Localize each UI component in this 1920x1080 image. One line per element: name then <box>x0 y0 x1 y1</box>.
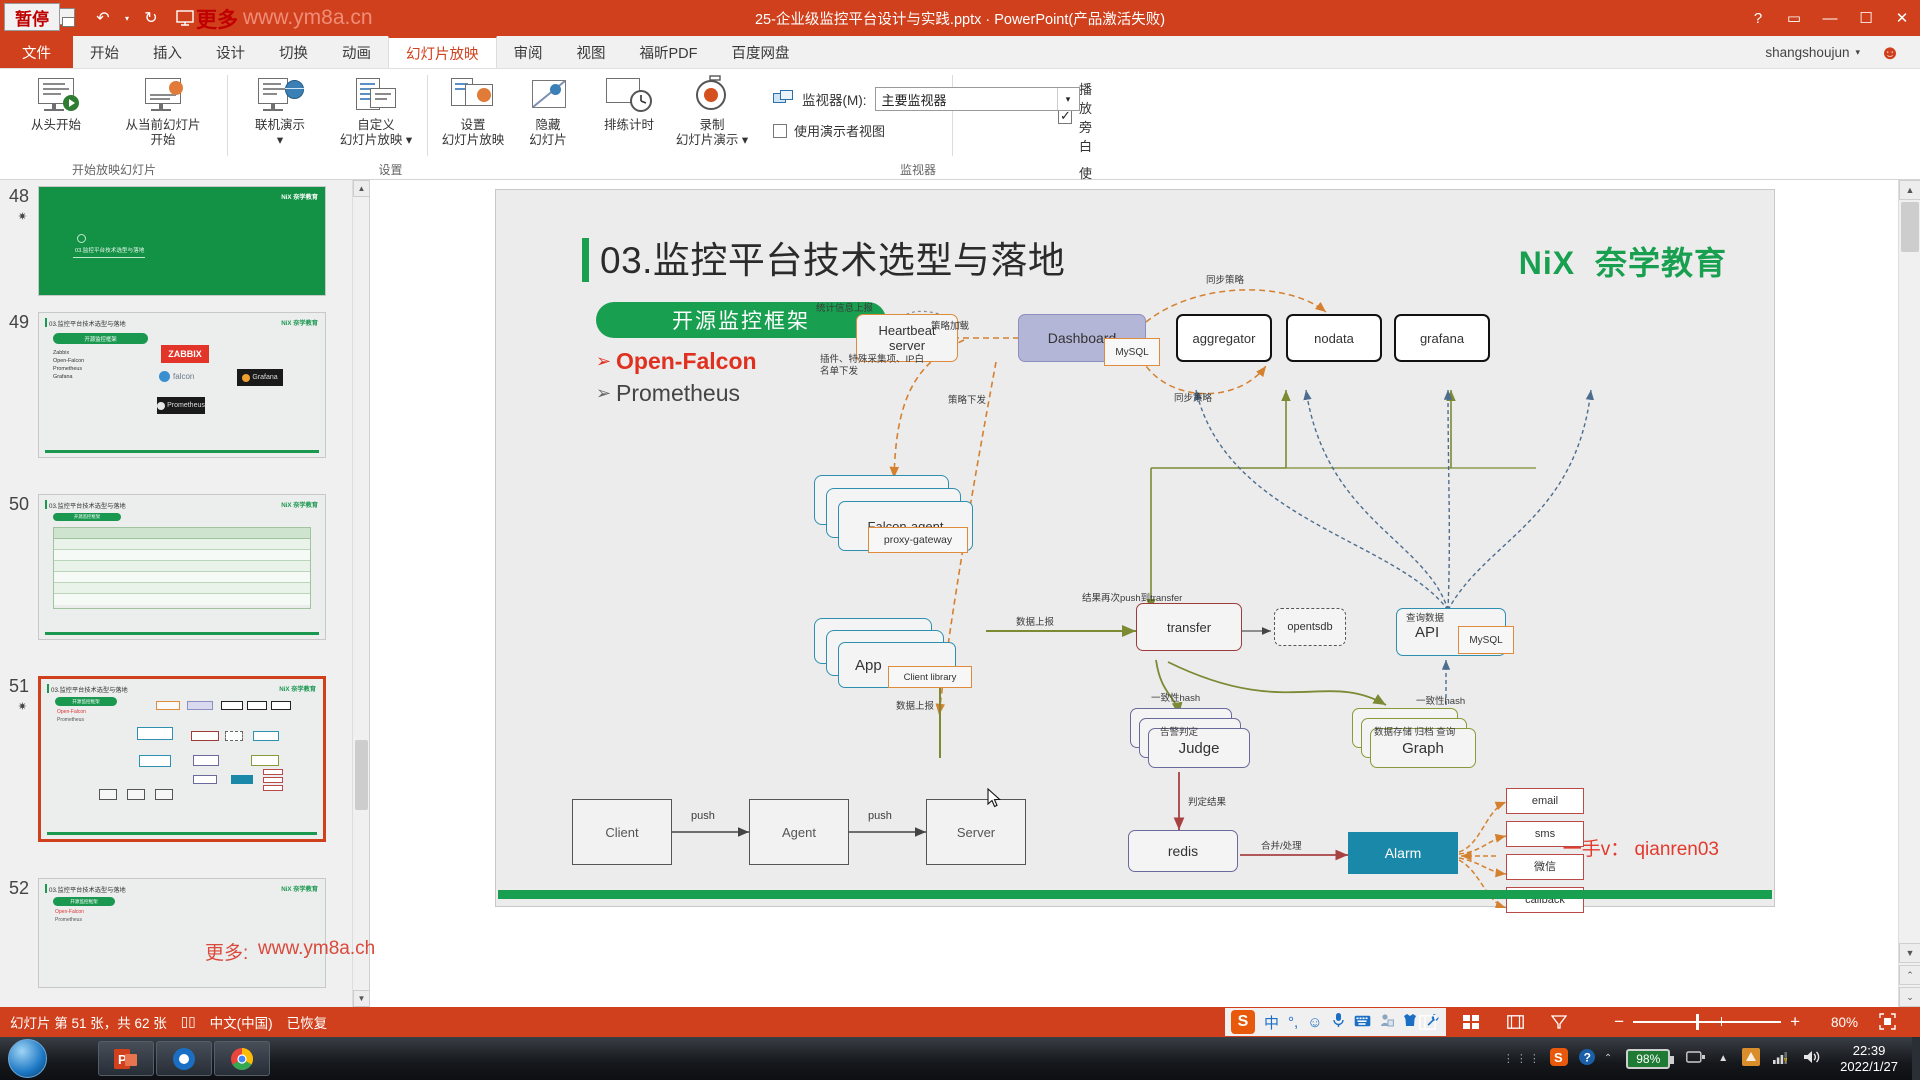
slide-number: 48 <box>0 186 38 207</box>
scrollbar-thumb[interactable] <box>1901 202 1919 252</box>
mini-pill: 开源监控框架 <box>53 897 115 906</box>
tray-power-icon[interactable] <box>1686 1050 1706 1067</box>
from-beginning-button[interactable]: 从头开始 <box>8 74 104 133</box>
grafana-badge: Grafana <box>237 369 283 386</box>
node-redis[interactable]: redis <box>1128 830 1238 872</box>
watermark-url-title: www.ym8a.cn <box>243 6 373 30</box>
battery-indicator[interactable]: 98% <box>1626 1049 1670 1069</box>
scroll-up-icon[interactable]: ▲ <box>353 180 370 197</box>
label-sync-policy-bottom: 同步策略 <box>1174 390 1212 404</box>
mini-title: 03.监控平台技术选型与落地 <box>49 501 126 510</box>
node-api-mysql[interactable]: MySQL <box>1458 626 1514 654</box>
present-online-icon <box>256 74 304 116</box>
tray-app-icon[interactable] <box>1742 1048 1760 1069</box>
reading-view-icon[interactable] <box>1506 1013 1524 1031</box>
close-button[interactable]: ✕ <box>1884 0 1920 36</box>
ribbon-group-label-start-show: 开始放映幻灯片 <box>0 161 228 178</box>
label-push-to-transfer: 结果再次push到transfer <box>1082 590 1182 604</box>
slide-number: 49 <box>0 312 38 333</box>
scrollbar-thumb[interactable] <box>355 740 368 810</box>
custom-slideshow-label: 自定义 幻灯片放映 ▾ <box>340 118 412 148</box>
ime-skin-icon[interactable] <box>1403 1013 1417 1031</box>
mini-bullets: Zabbix Open-Falcon Prometheus Grafana <box>53 349 84 381</box>
mini-bullet-1: Open-Falcon <box>55 909 84 915</box>
label-consistent-hash-2: 一致性hash <box>1416 693 1465 707</box>
scroll-down-icon[interactable]: ▼ <box>353 990 370 1007</box>
slide-number: 51 <box>0 676 38 697</box>
ime-mode-icon[interactable]: 中 <box>1264 1012 1279 1033</box>
scroll-down-icon[interactable]: ▼ <box>1899 943 1920 963</box>
volume-icon[interactable] <box>1802 1049 1822 1068</box>
minimize-button[interactable]: — <box>1812 0 1848 36</box>
scroll-up-icon[interactable]: ▲ <box>1899 180 1920 200</box>
custom-slideshow-button[interactable]: 自定义 幻灯片放映 ▾ <box>328 74 424 148</box>
label-push-1: push <box>691 810 715 822</box>
help-icon[interactable]: ? <box>1740 0 1776 36</box>
label-plugin-dispatch: 插件、特殊采集项、IP白名单下发 <box>820 354 930 378</box>
slide-canvas[interactable]: 03.监控平台技术选型与落地 NiX 奈学教育 开源监控框架 ➢ Open-Fa… <box>495 189 1775 907</box>
tab-design[interactable]: 设计 <box>199 36 262 68</box>
falcon-badge: falcon <box>159 371 194 382</box>
taskbar-xmind-icon[interactable] <box>156 1041 212 1076</box>
accessibility-icon[interactable]: ▯▯ <box>181 1014 196 1030</box>
mini-title: 03.监控平台技术选型与落地 <box>49 319 126 328</box>
zoom-percent[interactable]: 80% <box>1831 1007 1858 1037</box>
tab-insert[interactable]: 插入 <box>136 36 199 68</box>
zabbix-badge: ZABBIX <box>161 345 209 363</box>
thumbnail-slide-49[interactable]: 49 03.监控平台技术选型与落地 NiX 奈学教育 开源监控框架 Zabbix… <box>0 312 352 458</box>
view-buttons <box>1418 1007 1568 1037</box>
rehearse-timings-button[interactable]: 排练计时 <box>588 74 670 133</box>
chevron-down-icon: ▾ <box>1057 88 1079 110</box>
slide-thumbnail-pane: 48 ✷ NiX 奈学教育 03.监控平台技术选型与落地 49 03.监控平台技… <box>0 180 370 1007</box>
save-icon[interactable] <box>58 8 75 25</box>
label-push-2: push <box>868 810 892 822</box>
slide-watermark: 一手v： qianren03 <box>1563 834 1719 861</box>
mini-logo: NiX 奈学教育 <box>281 500 318 509</box>
node-client-library[interactable]: Client library <box>888 666 972 688</box>
zoom-slider-handle[interactable] <box>1696 1014 1699 1030</box>
monitor-label: 监视器(M): <box>802 89 867 109</box>
battery-percent: 98% <box>1636 1052 1660 1066</box>
setup-show-icon <box>449 74 497 116</box>
ribbon-group-start-show: 从头开始 从当前幻灯片 开始 开始放映幻灯片 <box>0 69 228 180</box>
ribbon-display-options-icon[interactable]: ▭ <box>1776 0 1812 36</box>
label-judge-result: 判定结果 <box>1188 794 1226 808</box>
tab-file[interactable]: 文件 <box>0 36 73 68</box>
node-server[interactable]: Server <box>926 799 1026 865</box>
avatar[interactable]: ☻ <box>1878 41 1902 65</box>
ime-toolbar[interactable]: S 中 °, ☺ <box>1225 1008 1446 1036</box>
mini-title: 03.监控平台技术选型与落地 <box>49 885 126 894</box>
label-consistent-hash-1: 一致性hash <box>1151 690 1200 704</box>
zoom-control: − + <box>1614 1007 1800 1037</box>
thumbnail-slide-48[interactable]: 48 ✷ NiX 奈学教育 03.监控平台技术选型与落地 <box>0 186 352 296</box>
zoom-out-button[interactable]: − <box>1614 1012 1624 1032</box>
svg-text:S: S <box>1554 1050 1563 1065</box>
node-nodata[interactable]: nodata <box>1286 314 1382 362</box>
label-data-report-2: 数据上报 <box>896 698 934 712</box>
slide-editing-pane: 03.监控平台技术选型与落地 NiX 奈学教育 开源监控框架 ➢ Open-Fa… <box>370 180 1898 1007</box>
record-slideshow-label: 录制 幻灯片演示 ▾ <box>676 118 748 148</box>
ime-user-icon[interactable] <box>1380 1013 1394 1031</box>
ribbon-group-monitors: 监视器(M): 主要监视器 ▾ 使用演示者视图 监视器 <box>753 69 1083 180</box>
tray-expand-icon[interactable]: ▲ <box>1718 1053 1728 1064</box>
tab-view[interactable]: 视图 <box>560 36 623 68</box>
fit-slide-icon[interactable] <box>1879 1013 1896 1030</box>
monitor-select-value: 主要监视器 <box>882 90 947 109</box>
title-bar: 25-企业级监控平台设计与实践.pptx · PowerPoint(产品激活失败… <box>0 0 1920 36</box>
slide-counter[interactable]: 幻灯片 第 51 张，共 62 张 <box>10 1012 167 1032</box>
prometheus-badge: Prometheus <box>157 397 205 414</box>
node-transfer[interactable]: transfer <box>1136 603 1242 651</box>
tray-grip: ⋮⋮⋮ <box>1503 1056 1542 1062</box>
mini-logo: NiX 奈学教育 <box>281 192 318 201</box>
network-icon[interactable]: ! <box>1772 1049 1790 1068</box>
ime-emoji-icon[interactable]: ☺ <box>1307 1014 1322 1031</box>
sogou-ime-icon[interactable]: S <box>1231 1010 1255 1034</box>
label-policy-load: 策略加载 <box>931 318 969 332</box>
mini-title: 03.监控平台技术选型与落地 <box>51 685 128 694</box>
node-dashboard-mysql[interactable]: MySQL <box>1104 338 1160 366</box>
mini-logo: NiX 奈学教育 <box>281 884 318 893</box>
mini-logo: NiX 奈学教育 <box>281 318 318 327</box>
ribbon: 从头开始 从当前幻灯片 开始 开始放映幻灯片 联机 <box>0 69 1920 180</box>
record-slideshow-button[interactable]: 录制 幻灯片演示 ▾ <box>668 74 756 148</box>
tray-sogou-icon[interactable]: S <box>1550 1048 1568 1069</box>
record-slideshow-icon <box>688 74 736 116</box>
mini-pill: 开源监控框架 <box>53 333 148 344</box>
zoom-slider[interactable] <box>1633 1021 1781 1023</box>
taskbar: P ⋮⋮⋮ S ? ⌃ 98% ▲ ! <box>0 1037 1920 1080</box>
setup-show-button[interactable]: 设置 幻灯片放映 <box>432 74 514 148</box>
mini-bullet-1: Open-Falcon <box>57 709 86 716</box>
mini-pill: 开源监控框架 <box>55 697 117 706</box>
mini-bullet-2: Prometheus <box>57 717 84 724</box>
node-agent[interactable]: Agent <box>749 799 849 865</box>
tab-transitions[interactable]: 切换 <box>262 36 325 68</box>
from-current-slide-button[interactable]: 从当前幻灯片 开始 <box>104 74 222 148</box>
label-alert-judge: 告警判定 <box>1160 724 1198 738</box>
redo-icon[interactable]: ↻ <box>134 3 168 33</box>
diagram-connectors <box>496 190 1776 908</box>
recovered-label[interactable]: 已恢复 <box>287 1012 328 1032</box>
animation-star-icon: ✷ <box>0 700 38 713</box>
mini-table <box>53 527 311 609</box>
start-orb-icon[interactable] <box>8 1039 47 1078</box>
tab-home[interactable]: 开始 <box>73 36 136 68</box>
tab-review[interactable]: 审阅 <box>497 36 560 68</box>
checkbox-icon <box>773 124 787 138</box>
thumbnail-canvas: 03.监控平台技术选型与落地 NiX 奈学教育 开源监控框架 Open-Falc… <box>38 878 326 988</box>
ime-keyboard-icon[interactable] <box>1354 1014 1371 1031</box>
node-email[interactable]: email <box>1506 788 1584 814</box>
ime-punctuation-icon[interactable]: °, <box>1288 1014 1298 1031</box>
clock[interactable]: 22:39 2022/1/27 <box>1840 1043 1898 1075</box>
mini-logo: NiX 奈学教育 <box>279 684 316 693</box>
rehearse-timings-icon <box>605 74 653 116</box>
mini-pill: 开源监控框架 <box>53 513 121 521</box>
setup-show-label: 设置 幻灯片放映 <box>442 118 505 148</box>
label-query-data: 查询数据 <box>1406 610 1444 624</box>
tray-show-hidden-icon[interactable]: ⌃ <box>1604 1053 1612 1064</box>
ribbon-group-label-setup: 设置 <box>228 161 553 178</box>
zoom-slider-tick <box>1721 1017 1722 1026</box>
chevron-down-icon: ▾ <box>1855 47 1860 58</box>
from-beginning-label: 从头开始 <box>31 118 81 133</box>
from-current-slide-icon <box>139 74 187 116</box>
tray-help-icon[interactable]: ? <box>1578 1048 1596 1069</box>
label-merge-process: 合并/处理 <box>1261 838 1302 852</box>
from-current-slide-label: 从当前幻灯片 开始 <box>125 118 200 148</box>
taskbar-chrome-icon[interactable] <box>214 1041 270 1076</box>
use-presenter-view-checkbox[interactable]: 使用演示者视图 <box>773 121 1080 140</box>
show-desktop-button[interactable] <box>1912 1037 1920 1080</box>
window-controls: ? ▭ — ☐ ✕ <box>1740 0 1920 36</box>
node-alarm[interactable]: Alarm <box>1348 832 1458 874</box>
zoom-in-button[interactable]: + <box>1790 1012 1800 1032</box>
undo-dropdown-icon[interactable]: ▾ <box>120 3 134 33</box>
language-label[interactable]: 中文(中国) <box>210 1012 273 1032</box>
thumbnail-slide-50[interactable]: 50 03.监控平台技术选型与落地 NiX 奈学教育 开源监控框架 <box>0 494 352 640</box>
magnifier-icon <box>77 234 86 243</box>
present-online-label: 联机演示 ▾ <box>255 118 305 148</box>
undo-icon[interactable]: ↶ <box>86 3 120 33</box>
label-data-report-1: 数据上报 <box>1016 614 1054 628</box>
account-label: shangshoujun <box>1765 45 1849 60</box>
thumbnail-canvas: NiX 奈学教育 03.监控平台技术选型与落地 <box>38 186 326 296</box>
slideshow-view-icon[interactable] <box>1550 1013 1568 1031</box>
clock-date: 2022/1/27 <box>1840 1059 1898 1075</box>
watermark-more-label: 更多 <box>196 4 238 34</box>
maximize-button[interactable]: ☐ <box>1848 0 1884 36</box>
thumbnail-slide-51[interactable]: 51 ✷ 03.监控平台技术选型与落地 NiX 奈学教育 开源监控框架 Open… <box>0 676 352 842</box>
animation-star-icon: ✷ <box>0 210 38 223</box>
label-sync-policy-top: 同步策略 <box>1206 272 1244 286</box>
mouse-cursor <box>986 788 1004 808</box>
monitor-icon <box>773 90 795 108</box>
from-beginning-icon <box>32 74 80 116</box>
node-aggregator[interactable]: aggregator <box>1176 314 1272 362</box>
normal-view-icon[interactable] <box>1418 1013 1436 1031</box>
menu-bar: 文件 开始 插入 设计 切换 动画 幻灯片放映 审阅 视图 福昕PDF 百度网盘… <box>0 36 1920 69</box>
monitor-select[interactable]: 主要监视器 ▾ <box>875 87 1080 111</box>
slide-sorter-view-icon[interactable] <box>1462 1013 1480 1031</box>
label-policy-dispatch: 策略下发 <box>948 392 986 406</box>
rehearse-timings-label: 排练计时 <box>604 118 654 133</box>
tab-baidu-netdisk[interactable]: 百度网盘 <box>715 36 807 68</box>
thumbnail-canvas: 03.监控平台技术选型与落地 NiX 奈学教育 开源监控框架 Zabbix Op… <box>38 312 326 458</box>
previous-slide-icon[interactable]: ⌃ <box>1899 965 1920 985</box>
next-slide-icon[interactable]: ⌄ <box>1899 987 1920 1007</box>
ribbon-group-setup: 设置 幻灯片放映 隐藏 幻灯片 排练计时 <box>428 69 753 180</box>
ime-mic-icon[interactable] <box>1332 1012 1345 1032</box>
node-opentsdb[interactable]: opentsdb <box>1274 608 1346 646</box>
account-name[interactable]: shangshoujun ▾ <box>1765 36 1860 69</box>
clock-time: 22:39 <box>1840 1043 1898 1059</box>
mini-bullet-2: Prometheus <box>55 917 82 923</box>
architecture-diagram: Heartbeat server Dashboard MySQL aggrega… <box>496 190 1776 908</box>
slide-number: 52 <box>0 878 38 899</box>
system-tray: ⋮⋮⋮ S ? ⌃ 98% ▲ ! 22:39 <box>1503 1037 1920 1080</box>
tab-animations[interactable]: 动画 <box>325 36 388 68</box>
custom-show-icon <box>352 74 400 116</box>
ribbon-group-label-monitors: 监视器 <box>753 161 1083 178</box>
svg-text:?: ? <box>1583 1051 1590 1065</box>
notes-watermark-more: 更多: <box>205 938 248 965</box>
hide-slide-label: 隐藏 幻灯片 <box>529 118 567 148</box>
mini-title: 03.监控平台技术选型与落地 <box>75 246 144 254</box>
node-grafana[interactable]: grafana <box>1394 314 1490 362</box>
node-proxy-gateway[interactable]: proxy-gateway <box>868 527 968 553</box>
slide-pane-scrollbar[interactable]: ▲ ▼ ⌃ ⌄ <box>1898 180 1920 1007</box>
pause-badge[interactable]: 暂停 <box>4 3 60 31</box>
notes-watermark-url: www.ym8a.ch <box>258 938 375 960</box>
thumbnail-canvas-selected: 03.监控平台技术选型与落地 NiX 奈学教育 开源监控框架 Open-Falc… <box>38 676 326 842</box>
slide-footer-bar <box>498 890 1772 899</box>
slide-number: 50 <box>0 494 38 515</box>
taskbar-powerpoint-icon[interactable]: P <box>98 1041 154 1076</box>
label-storage-archive-query: 数据存储 归档 查询 <box>1374 724 1455 738</box>
tab-foxit-pdf[interactable]: 福昕PDF <box>623 36 715 68</box>
thumbnail-canvas: 03.监控平台技术选型与落地 NiX 奈学教育 开源监控框架 <box>38 494 326 640</box>
status-bar: 幻灯片 第 51 张，共 62 张 ▯▯ 中文(中国) 已恢复 S 中 °, ☺ <box>0 1007 1920 1037</box>
tab-slideshow[interactable]: 幻灯片放映 <box>388 36 497 68</box>
use-presenter-view-label: 使用演示者视图 <box>794 121 885 140</box>
node-client[interactable]: Client <box>572 799 672 865</box>
hide-slide-icon <box>524 74 572 116</box>
label-stats-report: 统计信息上报 <box>816 300 873 314</box>
present-online-button[interactable]: 联机演示 ▾ <box>234 74 326 148</box>
thumbnail-scrollbar[interactable]: ▲ ▼ <box>352 180 369 1007</box>
hide-slide-button[interactable]: 隐藏 幻灯片 <box>514 74 582 148</box>
thumbnail-slide-52[interactable]: 52 03.监控平台技术选型与落地 NiX 奈学教育 开源监控框架 Open-F… <box>0 878 352 988</box>
